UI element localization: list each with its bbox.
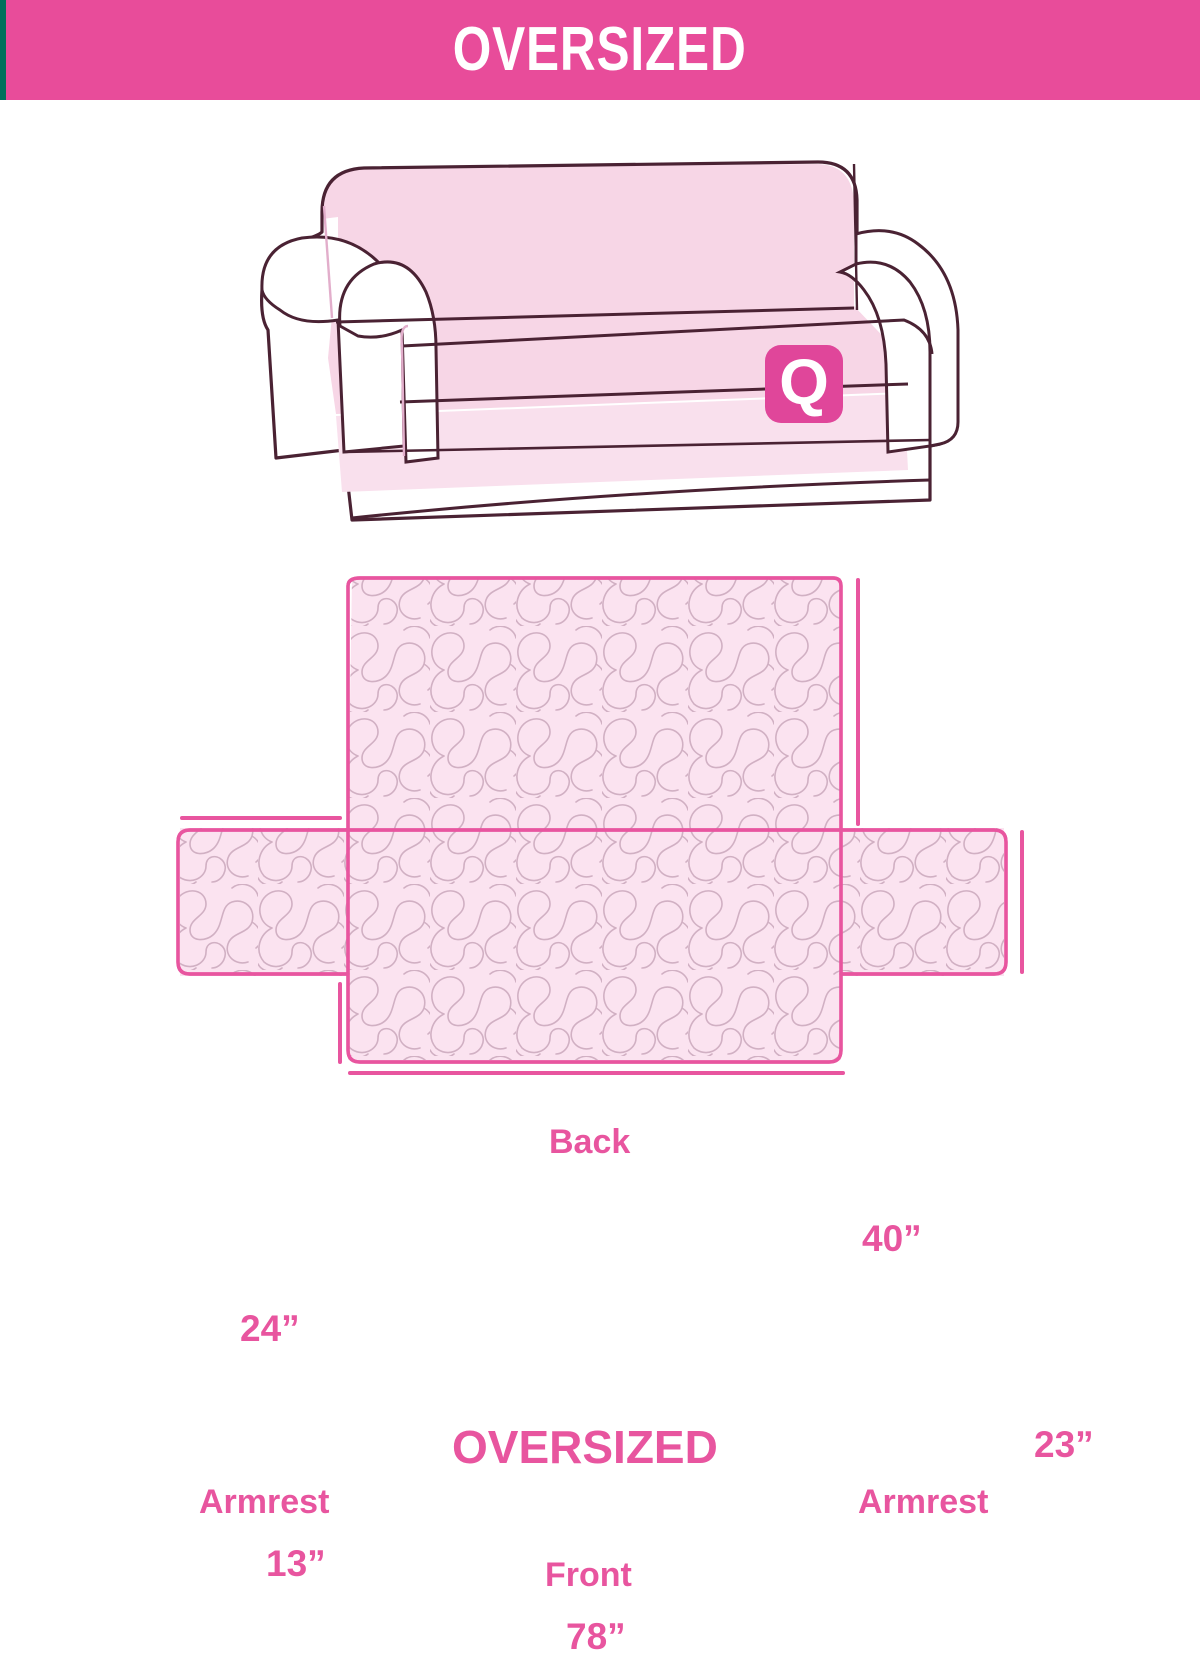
sofa-line-drawing-svg <box>240 140 980 530</box>
dimension-label-overall-width: 78” <box>566 1618 626 1655</box>
panel-label-armrest-right: Armrest <box>858 1485 988 1519</box>
panel-label-armrest-left: Armrest <box>199 1485 329 1519</box>
brand-logo-letter: Q <box>779 350 829 414</box>
dimension-label-front-drop: 13” <box>266 1545 326 1582</box>
brand-logo-badge: Q <box>765 345 843 423</box>
sofa-illustration: Q <box>240 140 980 530</box>
pattern-diagram-svg <box>0 540 1200 1160</box>
pattern-center-label: OVERSIZED <box>452 1424 718 1470</box>
page-title: OVERSIZED <box>453 19 747 81</box>
header-banner: OVERSIZED <box>0 0 1200 100</box>
panel-label-front: Front <box>545 1558 632 1592</box>
slipcover-pattern-diagram: Back Front Armrest Armrest OVERSIZED 40”… <box>0 540 1200 1160</box>
panel-label-back: Back <box>549 1125 630 1159</box>
dimension-label-seat-depth: 23” <box>1034 1426 1094 1463</box>
header-accent-strip <box>0 0 6 100</box>
dimension-label-armrest-width: 24” <box>240 1310 300 1347</box>
dimension-label-back-height: 40” <box>862 1220 922 1257</box>
